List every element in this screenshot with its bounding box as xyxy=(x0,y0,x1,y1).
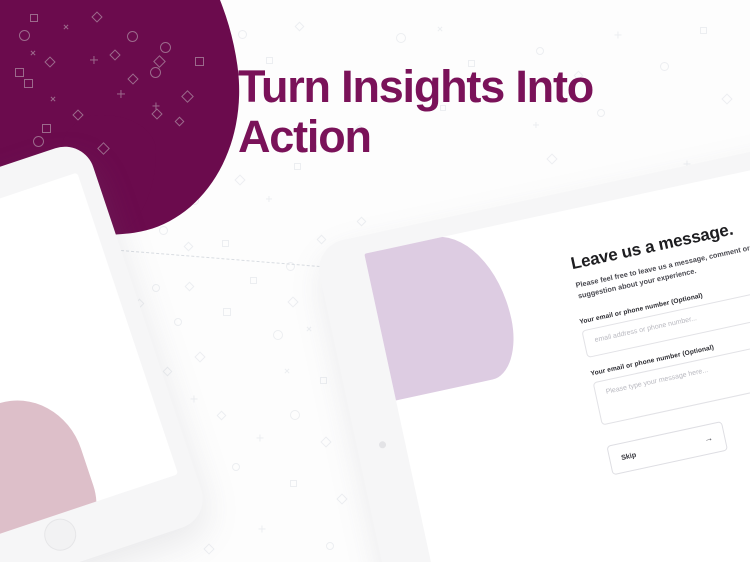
tablet-right: Leave us a message. Please feel free to … xyxy=(314,115,750,562)
feedback-form: Leave us a message. Please feel free to … xyxy=(565,186,750,477)
promo-banner: Leave us a message. Please feel free to … xyxy=(0,0,750,562)
arrow-right-icon: → xyxy=(703,433,714,444)
page-title: Turn Insights Into Action xyxy=(238,62,598,163)
home-button-icon[interactable] xyxy=(378,441,386,449)
pink-blob-right xyxy=(364,224,523,400)
tablet-right-screen: Leave us a message. Please feel free to … xyxy=(364,136,750,562)
tablet-left-screen xyxy=(0,173,178,559)
headline-line-1: Turn Insights Into xyxy=(238,62,598,112)
skip-button[interactable]: Skip → xyxy=(606,421,728,475)
home-button-icon[interactable] xyxy=(40,514,81,555)
headline-line-2: Action xyxy=(238,112,598,162)
skip-button-label: Skip xyxy=(620,450,637,462)
